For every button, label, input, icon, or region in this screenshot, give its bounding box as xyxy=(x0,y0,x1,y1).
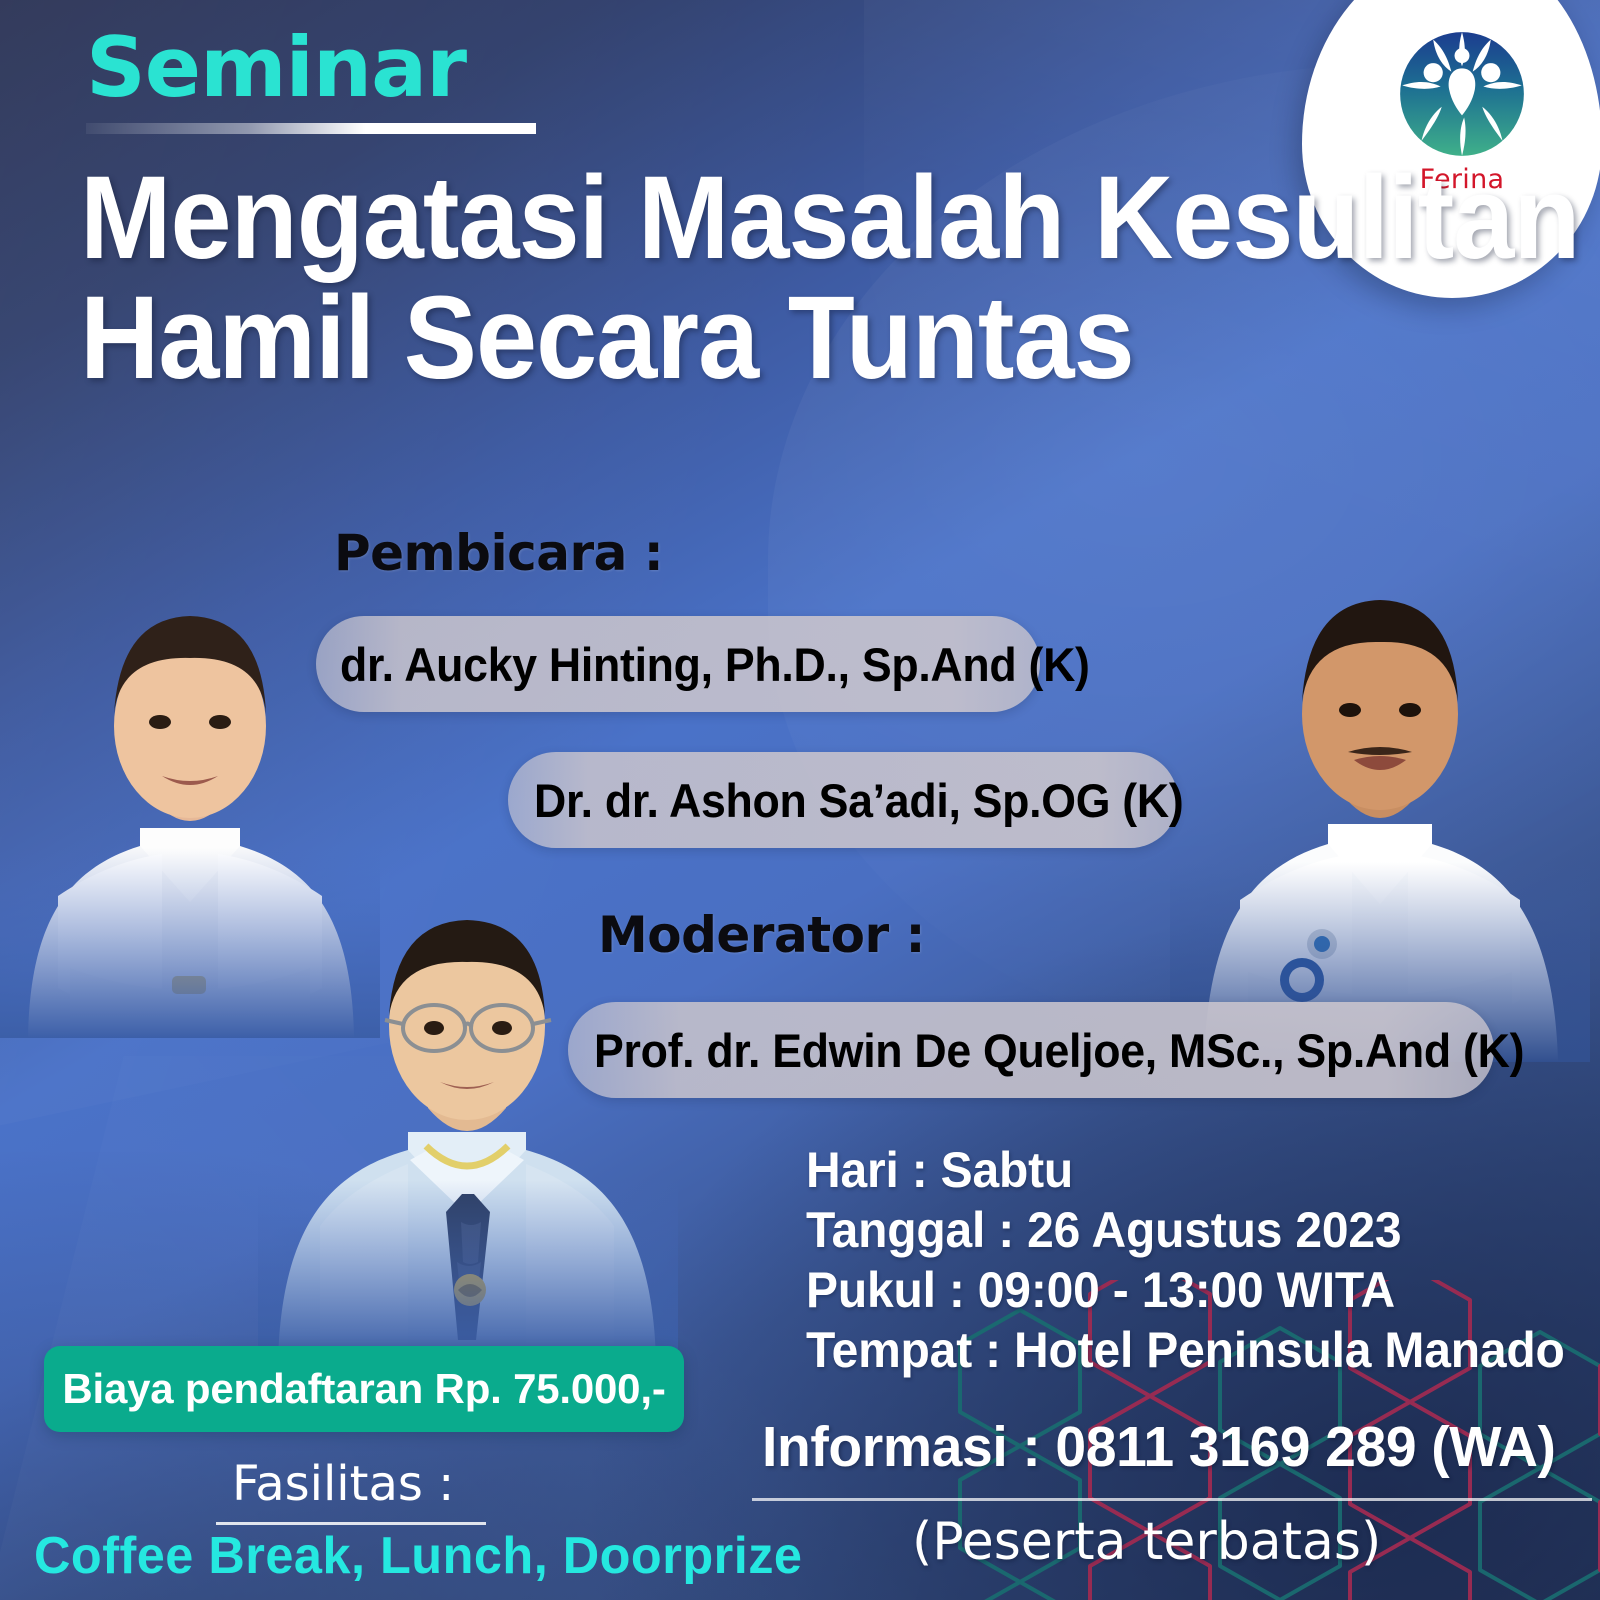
facilities-list: Coffee Break, Lunch, Doorprize xyxy=(34,1526,802,1586)
ferina-people-circle-logo-icon xyxy=(1398,30,1526,158)
registration-fee-text: Biaya pendaftaran Rp. 75.000,- xyxy=(62,1365,665,1413)
facilities-underline xyxy=(216,1522,486,1525)
speakers-label: Pembicara : xyxy=(334,524,663,582)
speaker-pill-1: dr. Aucky Hinting, Ph.D., Sp.And (K) xyxy=(316,616,1040,712)
moderator-label: Moderator : xyxy=(598,906,925,964)
limited-seats-note: (Peserta terbatas) xyxy=(912,1512,1381,1572)
poster-kicker: Seminar xyxy=(86,26,466,109)
portrait-speaker-right xyxy=(1170,452,1590,1062)
moderator-name: Prof. dr. Edwin De Queljoe, MSc., Sp.And… xyxy=(594,1023,1524,1078)
contact-label: Informasi : xyxy=(762,1415,1055,1479)
kicker-underline xyxy=(86,123,536,134)
event-time: Pukul : 09:00 - 13:00 WITA xyxy=(806,1260,1565,1320)
moderator-pill: Prof. dr. Edwin De Queljoe, MSc., Sp.And… xyxy=(568,1002,1494,1098)
event-date: Tanggal : 26 Agustus 2023 xyxy=(806,1200,1565,1260)
title-line-1: Mengatasi Masalah Kesulitan xyxy=(80,158,1252,278)
event-details: Hari : Sabtu Tanggal : 26 Agustus 2023 P… xyxy=(806,1140,1565,1380)
contact-info-line: Informasi : 0811 3169 289 (WA) xyxy=(762,1414,1556,1480)
speaker-pill-2: Dr. dr. Ashon Sa’adi, Sp.OG (K) xyxy=(508,752,1178,848)
contact-phone[interactable]: 0811 3169 289 (WA) xyxy=(1055,1415,1555,1479)
seminar-poster: Ferina Seminar Mengatasi Masalah Kesulit… xyxy=(0,0,1600,1600)
registration-fee-badge: Biaya pendaftaran Rp. 75.000,- xyxy=(44,1346,684,1432)
title-line-2: Hamil Secara Tuntas xyxy=(80,278,1252,398)
contact-underline xyxy=(752,1498,1592,1501)
speaker-name-1: dr. Aucky Hinting, Ph.D., Sp.And (K) xyxy=(340,637,1090,692)
event-venue: Tempat : Hotel Peninsula Manado xyxy=(806,1320,1565,1380)
page-title: Mengatasi Masalah Kesulitan Hamil Secara… xyxy=(80,158,1252,399)
speaker-name-2: Dr. dr. Ashon Sa’adi, Sp.OG (K) xyxy=(534,773,1183,828)
event-day: Hari : Sabtu xyxy=(806,1140,1565,1200)
facilities-label: Fasilitas : xyxy=(232,1456,454,1512)
